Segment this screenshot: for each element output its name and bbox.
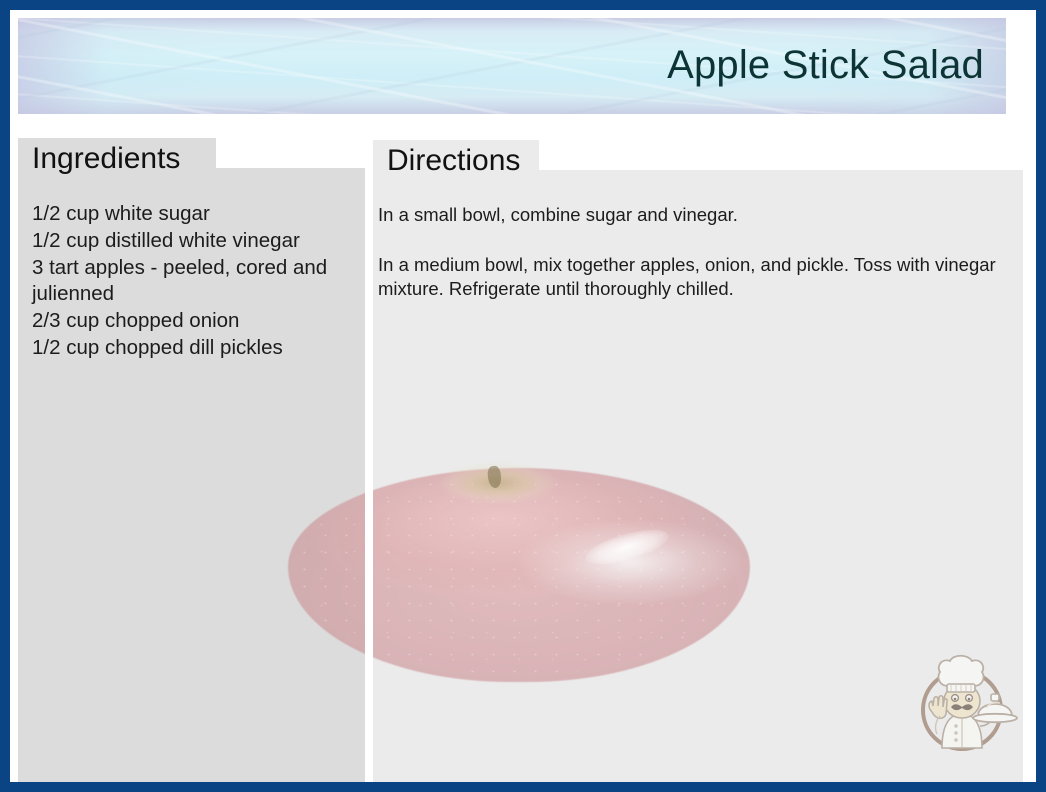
slide-inner-frame: Apple Stick Salad Ingredients Directions… (10, 10, 1036, 782)
title-banner: Apple Stick Salad (18, 18, 1006, 114)
direction-step: In a medium bowl, mix together apples, o… (378, 253, 1018, 301)
ingredients-list: 1/2 cup white sugar 1/2 cup distilled wh… (32, 201, 362, 362)
recipe-slide: Apple Stick Salad Ingredients Directions… (0, 0, 1046, 792)
direction-step: In a small bowl, combine sugar and vineg… (378, 203, 1018, 227)
directions-heading: Directions (373, 140, 539, 182)
ingredients-heading: Ingredients (18, 138, 216, 180)
list-item: 3 tart apples - peeled, cored and julien… (32, 255, 362, 309)
list-item: 2/3 cup chopped onion (32, 308, 362, 335)
page-title: Apple Stick Salad (667, 44, 984, 86)
directions-body: In a small bowl, combine sugar and vineg… (378, 203, 1018, 301)
list-item: 1/2 cup white sugar (32, 201, 362, 228)
list-item: 1/2 cup chopped dill pickles (32, 335, 362, 362)
list-item: 1/2 cup distilled white vinegar (32, 228, 362, 255)
column-gutter (365, 138, 373, 782)
